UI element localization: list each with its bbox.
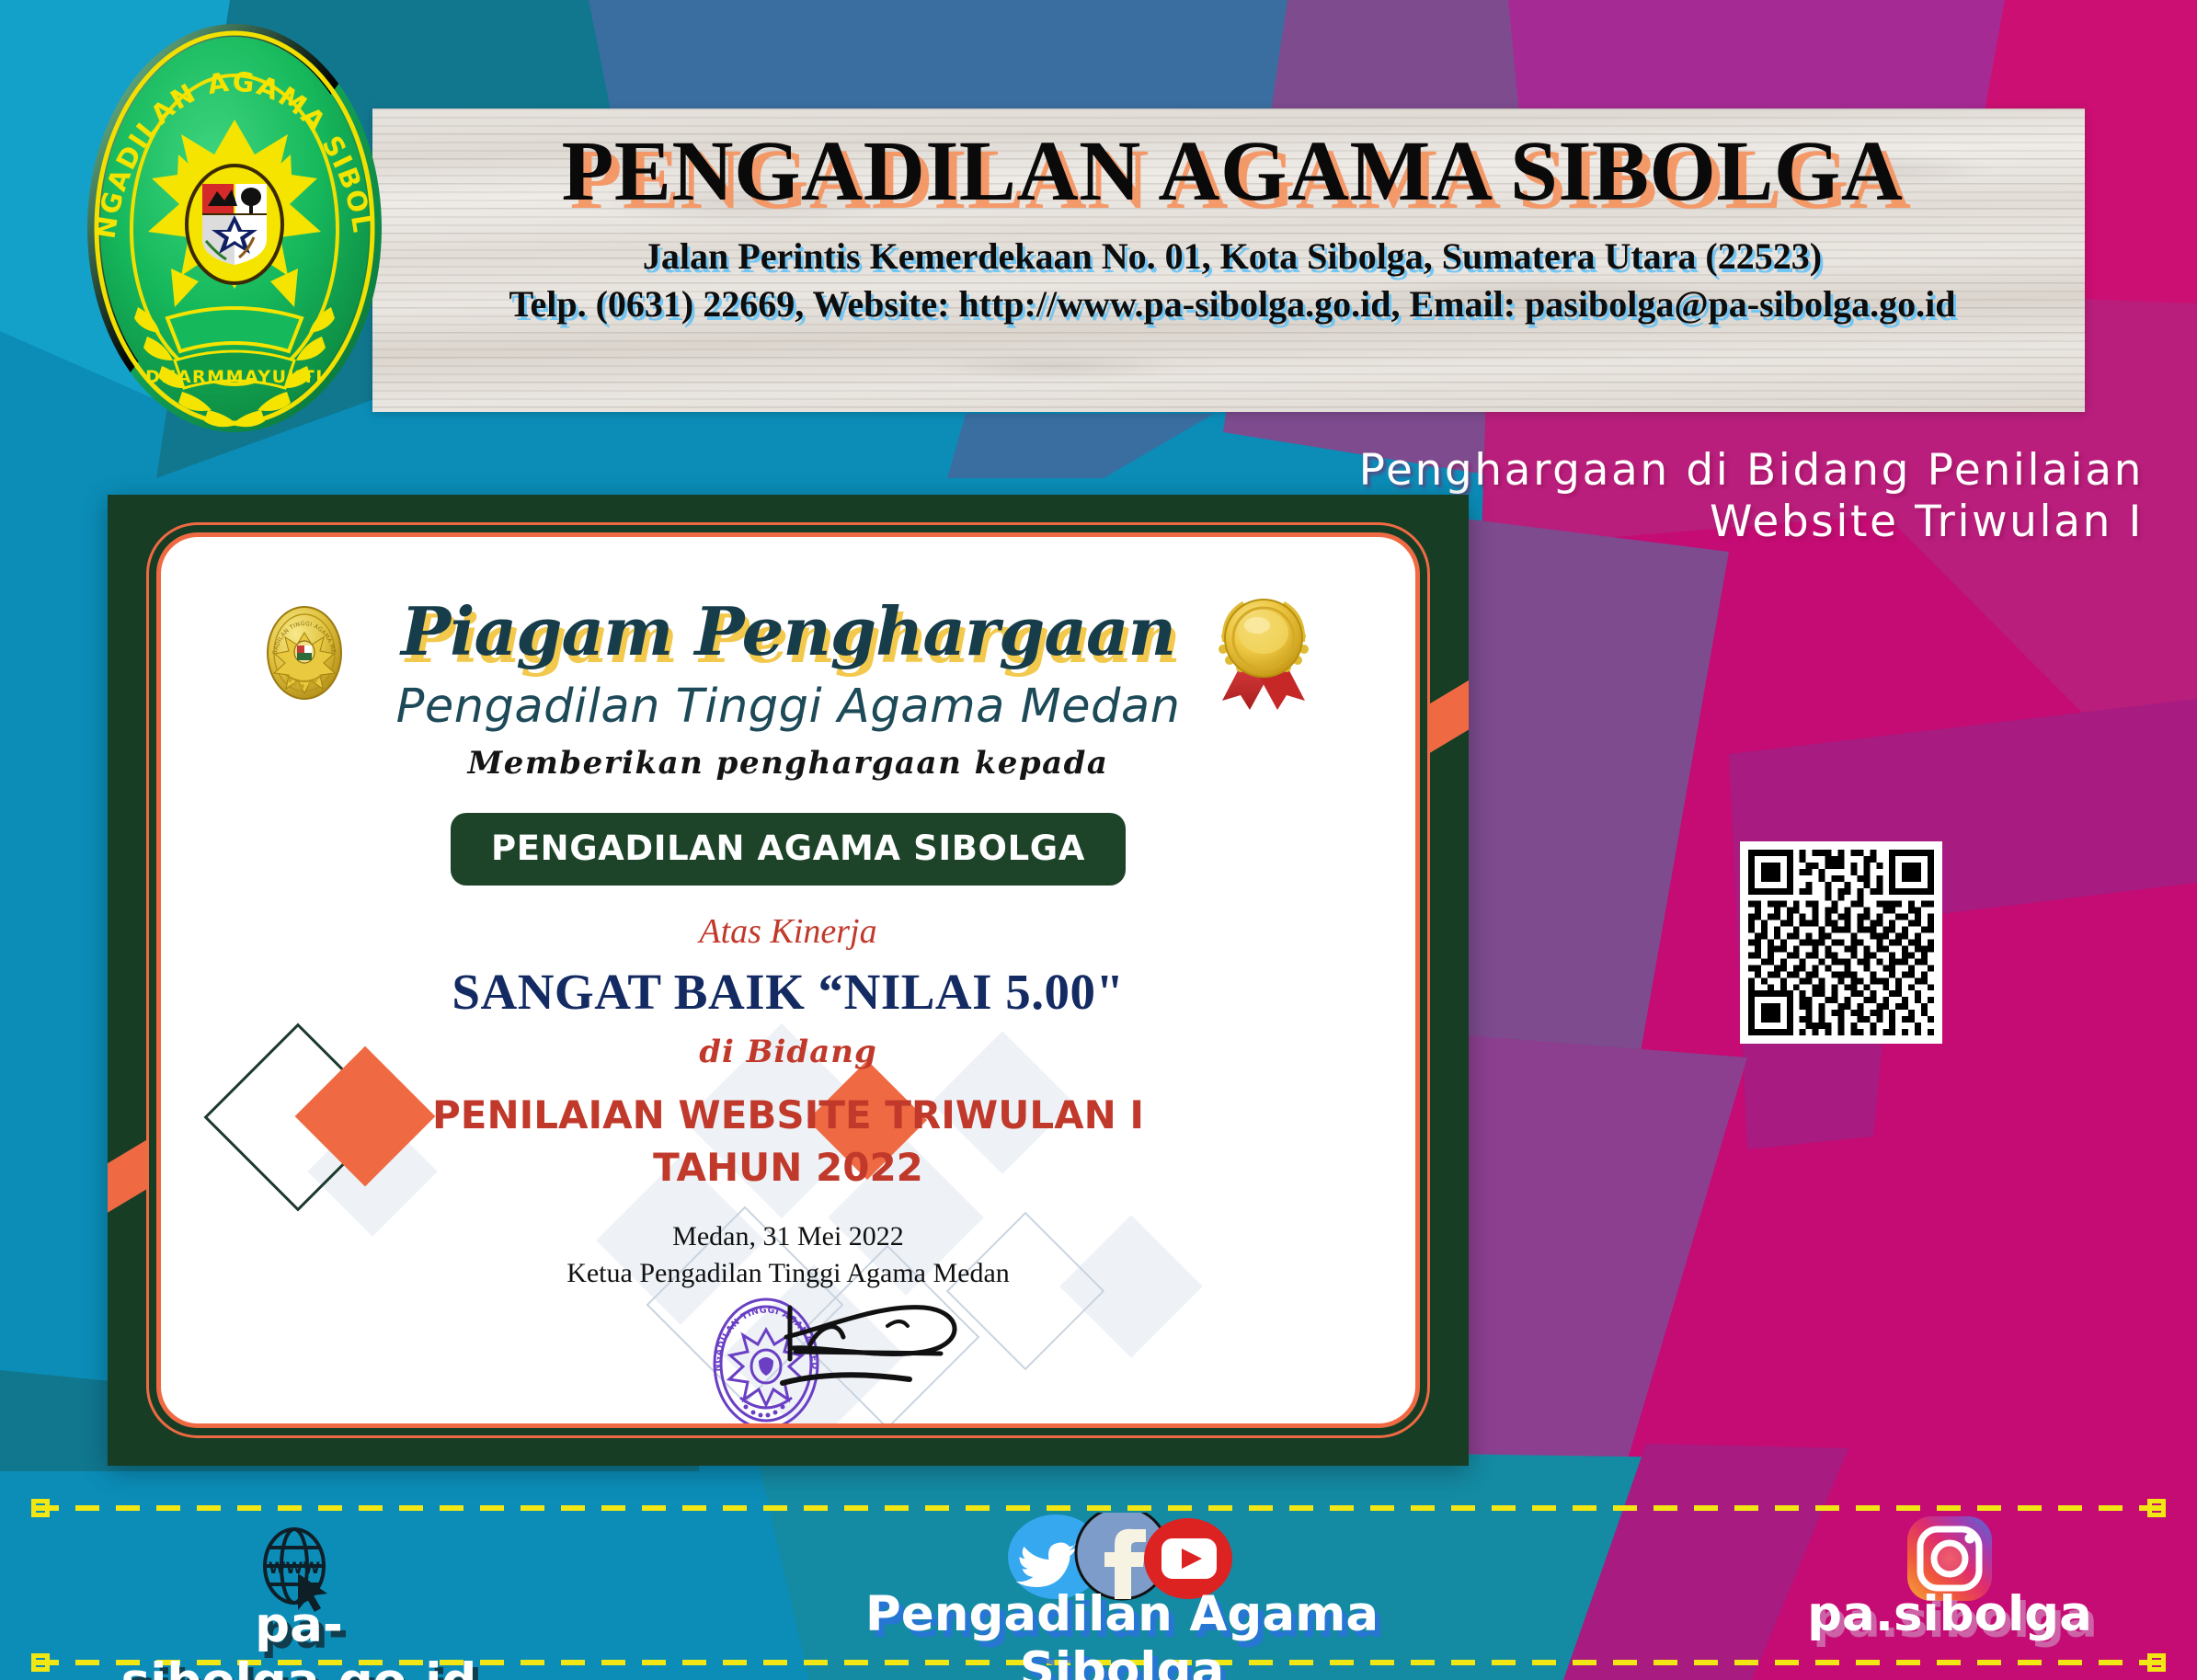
performance-label: Atas Kinerja	[161, 911, 1415, 952]
dash-cap-bottom-right	[2147, 1653, 2166, 1672]
address-line-1: Jalan Perintis Kemerdekaan No. 01, Kota …	[395, 233, 2069, 280]
dashed-line-top	[35, 1505, 2162, 1511]
svg-text:WWW: WWW	[269, 1560, 321, 1578]
field-line-1: PENILAIAN WEBSITE TRIWULAN I	[161, 1091, 1415, 1141]
footer-website-label: pa-sibolga.go.id	[97, 1597, 501, 1680]
page-footer: WWW pa-sibolga.go.id	[0, 1459, 2197, 1680]
dash-cap-top-left	[31, 1499, 50, 1517]
certificate-issuer: Pengadilan Tinggi Agama Medan	[161, 680, 1415, 734]
address-line-2: Telp. (0631) 22669, Website: http://www.…	[395, 280, 2069, 328]
recipient-badge: PENGADILAN AGAMA SIBOLGA	[451, 813, 1126, 886]
footer-instagram-block[interactable]: pa.sibolga	[1711, 1516, 2189, 1642]
dash-cap-top-right	[2147, 1499, 2166, 1517]
footer-social-label: Pengadilan Agama Sibolga	[791, 1586, 1453, 1680]
field-line-2: TAHUN 2022	[161, 1143, 1415, 1194]
dash-cap-bottom-left	[31, 1653, 50, 1672]
svg-text:DHARMMAYUKTI: DHARMMAYUKTI	[145, 367, 324, 387]
certificate: PENGADILAN TINGGI AGAMA MEDAN	[108, 495, 1469, 1466]
page-title: PENGADILAN AGAMA SIBOLGA	[395, 129, 2069, 216]
court-logo-icon: PENGADILAN AGAMA SIBOLGA	[83, 17, 386, 440]
certificate-subtitle: Memberikan penghargaan kepada	[161, 745, 1415, 782]
signature	[770, 1287, 990, 1416]
certificate-inner-panel: PENGADILAN TINGGI AGAMA MEDAN	[161, 537, 1415, 1423]
footer-instagram-label: pa.sibolga	[1711, 1586, 2189, 1642]
place-date: Medan, 31 Mei 2022	[161, 1218, 1415, 1255]
footer-website-block[interactable]: WWW pa-sibolga.go.id	[97, 1527, 501, 1680]
certificate-title: Piagam Penghargaan	[161, 592, 1415, 670]
footer-social-block[interactable]: Pengadilan Agama Sibolga	[791, 1516, 1453, 1680]
page-header: PENGADILAN AGAMA SIBOLGA	[0, 0, 2197, 432]
qr-code[interactable]	[1740, 841, 1942, 1044]
field-label: di Bidang	[161, 1034, 1415, 1070]
award-headline-line1: Penghargaan di Bidang Penilaian	[1132, 445, 2144, 497]
grade-value: SANGAT BAIK “NILAI 5.00"	[161, 963, 1415, 1021]
